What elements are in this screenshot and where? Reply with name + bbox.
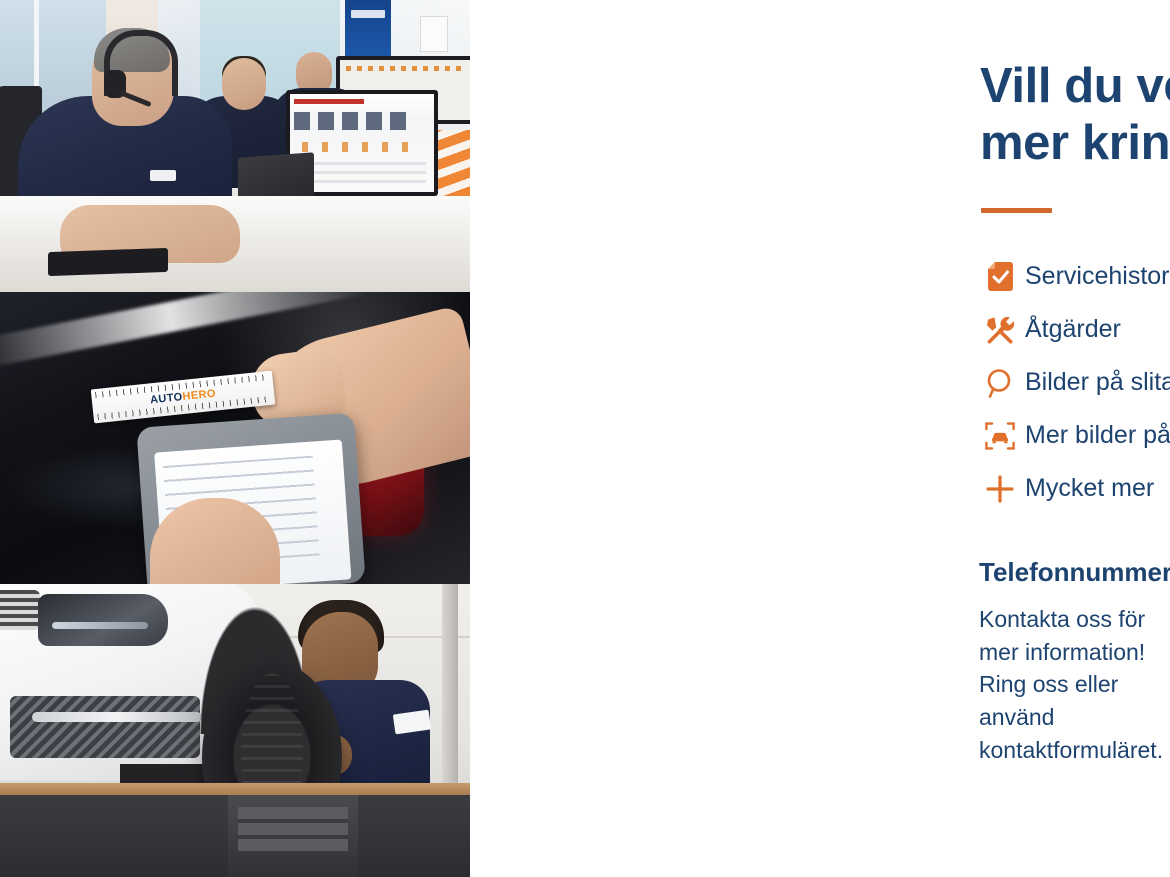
feature-label: Åtgärder — [1025, 315, 1121, 344]
autohero-ruler-logo: AUTOHERO — [150, 388, 217, 406]
agent-1-name-badge — [150, 170, 176, 181]
blue-banner-shape — [345, 0, 391, 56]
magnifier-icon — [975, 368, 1025, 398]
tools-icon — [975, 315, 1025, 345]
document-check-icon — [975, 262, 1025, 291]
feature-item-service-history: Servicehistoriken — [975, 250, 1170, 303]
photo-column: AUTOHERO — [0, 0, 470, 877]
page-title: Vill du veta mer kring: — [980, 58, 1170, 172]
feature-label: Servicehistoriken — [1025, 262, 1170, 291]
phone-number-line: Telefonnummer: +46812411432 — [979, 557, 1170, 588]
plus-icon — [975, 474, 1025, 504]
car-inspection-ruler-photo: AUTOHERO — [0, 292, 470, 584]
feature-label: Bilder på slitage — [1025, 368, 1170, 397]
desk-tablet — [48, 248, 168, 276]
headline-divider — [981, 208, 1052, 213]
workshop-tire-change-photo — [0, 584, 470, 877]
feature-label: Mycket mer — [1025, 474, 1154, 503]
car-scan-icon — [975, 421, 1025, 451]
promo-poster: AUTOHERO — [0, 0, 1170, 877]
contact-line-1: Kontakta oss för mer information! — [979, 603, 1170, 668]
screen-icon-row — [302, 142, 418, 152]
contact-line-2: Ring oss eller använd kontaktformuläret. — [979, 668, 1170, 766]
content-column: Vill du veta mer kring: Servicehistorike… — [470, 0, 1170, 877]
feature-item-actions: Åtgärder — [975, 303, 1170, 356]
agent-2-head — [222, 58, 266, 110]
headline-line-1: Vill du veta — [980, 59, 1170, 113]
car-headlight — [38, 594, 168, 646]
headline-line-2: mer kring: — [980, 116, 1170, 170]
screen-header-bar — [294, 99, 364, 104]
feature-item-car-photos: Mer bilder på bilen — [975, 409, 1170, 462]
workbench-top — [0, 783, 470, 795]
feature-item-much-more: Mycket mer — [975, 462, 1170, 515]
feature-item-wear-photos: Bilder på slitage — [975, 356, 1170, 409]
car-grille — [0, 590, 40, 630]
tool-chest — [228, 795, 358, 877]
feature-list: Servicehistoriken Åtgärder — [975, 250, 1170, 515]
screen-car-thumbnails — [294, 112, 414, 130]
screen-text-rows — [300, 162, 426, 186]
car-bumper-vent — [10, 696, 200, 758]
wall-poster-shape — [420, 16, 448, 52]
contact-text: Kontakta oss för mer information! Ring o… — [979, 603, 1170, 766]
call-center-agents-photo — [0, 0, 470, 292]
car-bumper-chrome-trim — [32, 712, 202, 722]
feature-label: Mer bilder på bilen — [1025, 421, 1170, 450]
